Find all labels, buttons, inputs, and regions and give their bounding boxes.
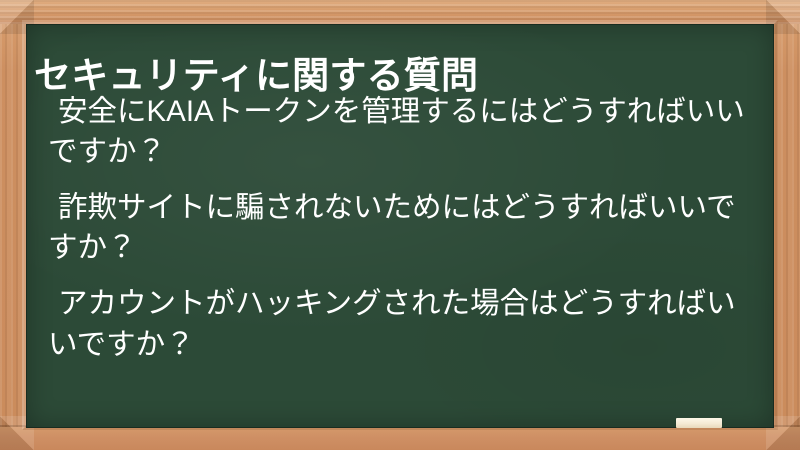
list-item: 詐欺サイトに騙されないためにはどうすればいいですか？ (26, 188, 766, 268)
chalkboard-slide: セキュリティに関する質問 安全にKAIAトークンを管理するにはどうすればいいです… (0, 0, 800, 450)
frame-bottom-ledge (0, 427, 800, 450)
chalk-stick-icon (676, 418, 722, 428)
slide-content: セキュリティに関する質問 安全にKAIAトークンを管理するにはどうすればいいです… (26, 24, 774, 428)
chalkboard-surface: セキュリティに関する質問 安全にKAIAトークンを管理するにはどうすればいいです… (26, 24, 774, 428)
list-item: 安全にKAIAトークンを管理するにはどうすればいいですか？ (26, 92, 766, 172)
question-list: 安全にKAIAトークンを管理するにはどうすればいいですか？ 詐欺サイトに騙されな… (26, 92, 766, 365)
list-item: アカウントがハッキングされた場合はどうすればいいですか？ (26, 284, 766, 364)
